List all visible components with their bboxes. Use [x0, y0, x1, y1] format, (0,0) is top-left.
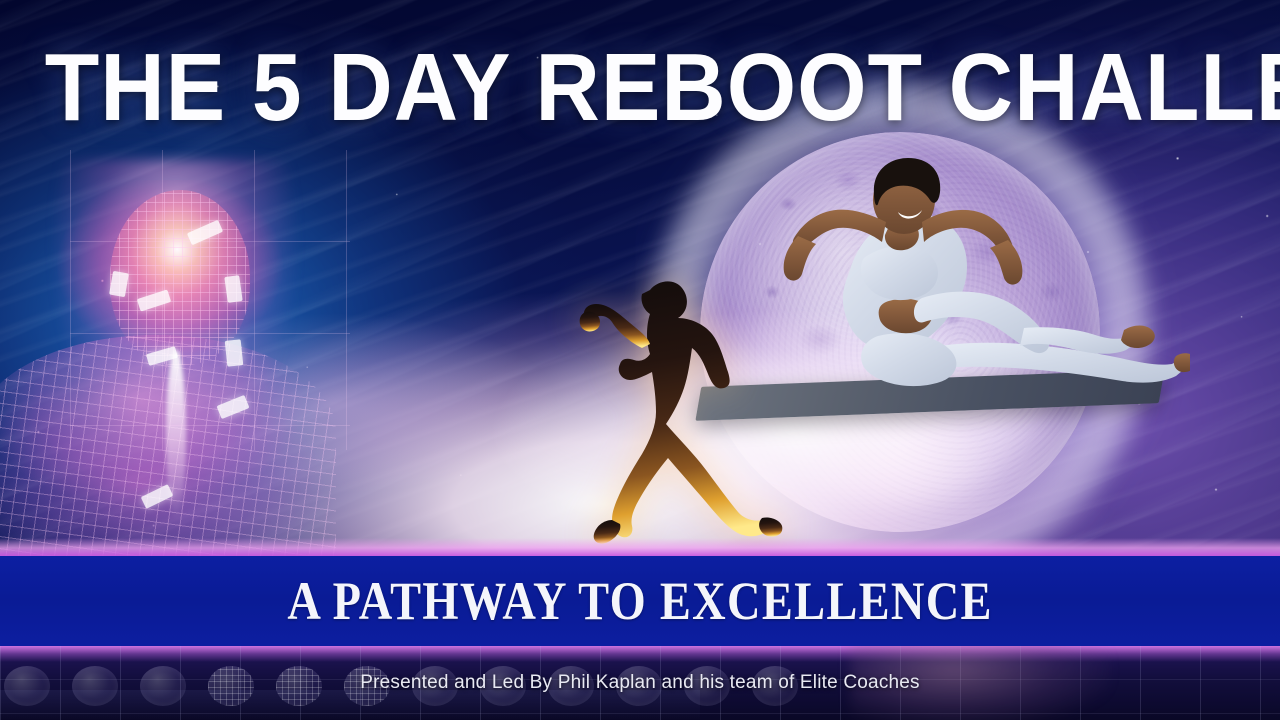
wireframe-grid-overlay	[70, 150, 350, 450]
subtitle-text: A PATHWAY TO EXCELLENCE	[287, 570, 992, 632]
poster-canvas: THE 5 DAY REBOOT CHALLENGE A PATHWAY TO …	[0, 0, 1280, 720]
credit-line: Presented and Led By Phil Kaplan and his…	[0, 672, 1280, 694]
footer-reflection	[0, 690, 700, 720]
subtitle-banner: A PATHWAY TO EXCELLENCE	[0, 556, 1280, 646]
runner-silhouette	[578, 268, 808, 550]
banner-top-glow	[0, 538, 1280, 556]
wireframe-tape-6	[225, 339, 244, 367]
page-title: THE 5 DAY REBOOT CHALLENGE	[45, 40, 1235, 136]
wireframe-human-graphic	[0, 150, 350, 570]
